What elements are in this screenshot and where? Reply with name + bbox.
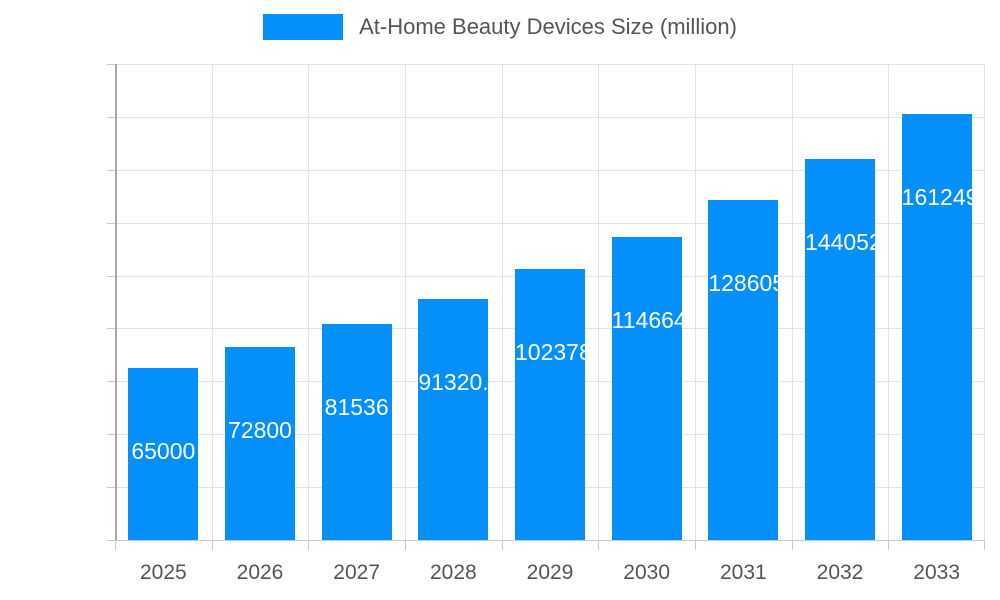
bar-value-label: 102378.76 (515, 341, 585, 364)
y-axis-tick-mark (107, 170, 115, 171)
x-axis-tick-label: 2029 (527, 561, 574, 585)
x-axis-tick-mark (405, 541, 406, 550)
x-axis-tick-label: 2027 (333, 561, 380, 585)
x-axis-line (115, 540, 985, 541)
y-axis-tick-mark (107, 487, 115, 488)
x-axis-tick-mark (695, 541, 696, 550)
x-axis-tick-mark (984, 541, 985, 550)
y-axis-tick-mark (107, 381, 115, 382)
x-axis-tick-mark (792, 541, 793, 550)
y-axis-tick-mark (107, 434, 115, 435)
x-axis-tick-label: 2026 (237, 561, 284, 585)
bar-value-label: 128605.92 (708, 272, 778, 295)
x-axis-tick-mark (308, 541, 309, 550)
bar-value-label: 161249.95 (902, 186, 972, 209)
bar[interactable]: 81536 (322, 324, 392, 540)
x-axis-tick-mark (502, 541, 503, 550)
gridline-vertical (888, 64, 889, 540)
gridline-vertical (502, 64, 503, 540)
x-axis-tick-mark (212, 541, 213, 550)
x-axis-tick-mark (115, 541, 116, 550)
x-axis-tick-label: 2032 (817, 561, 864, 585)
bar-value-label: 91320.32 (418, 371, 488, 394)
x-axis-tick-label: 2030 (623, 561, 670, 585)
gridline-horizontal (115, 117, 985, 118)
chart-legend: At-Home Beauty Devices Size (million) (0, 14, 1000, 40)
y-axis-tick-mark (107, 276, 115, 277)
legend-label[interactable]: At-Home Beauty Devices Size (million) (359, 14, 737, 40)
gridline-vertical (405, 64, 406, 540)
bar[interactable]: 65000 (128, 368, 198, 540)
bar[interactable]: 144052.63 (805, 159, 875, 540)
x-axis-tick-label: 2028 (430, 561, 477, 585)
bar[interactable]: 161249.95 (902, 114, 972, 540)
gridline-vertical (984, 64, 985, 540)
x-axis-tick-label: 2031 (720, 561, 767, 585)
y-axis-tick-mark (107, 540, 115, 541)
bar[interactable]: 72800 (225, 347, 295, 540)
bar-chart: At-Home Beauty Devices Size (million) 65… (0, 0, 1000, 600)
y-axis-tick-mark (107, 223, 115, 224)
bar[interactable]: 102378.76 (515, 269, 585, 540)
gridline-vertical (598, 64, 599, 540)
bar[interactable]: 128605.92 (708, 200, 778, 540)
gridline-vertical (792, 64, 793, 540)
y-axis-tick-mark (107, 64, 115, 65)
x-axis-tick-label: 2033 (913, 561, 960, 585)
bar-value-label: 72800 (225, 419, 295, 442)
x-axis-tick-mark (598, 541, 599, 550)
x-axis-tick-label: 2025 (140, 561, 187, 585)
bar[interactable]: 114664.21 (612, 237, 682, 540)
y-axis-tick-mark (107, 328, 115, 329)
bar[interactable]: 91320.32 (418, 299, 488, 540)
bar-value-label: 114664.21 (612, 309, 682, 332)
y-axis-tick-mark (107, 117, 115, 118)
bar-value-label: 81536 (322, 396, 392, 419)
plot-area: 65000728008153691320.32102378.76114664.2… (115, 64, 985, 540)
gridline-vertical (695, 64, 696, 540)
y-axis-line (115, 64, 117, 541)
bar-value-label: 144052.63 (805, 231, 875, 254)
gridline-horizontal (115, 64, 985, 65)
x-axis-tick-mark (888, 541, 889, 550)
gridline-vertical (212, 64, 213, 540)
bar-value-label: 65000 (128, 440, 198, 463)
gridline-vertical (308, 64, 309, 540)
legend-color-swatch[interactable] (263, 14, 343, 40)
